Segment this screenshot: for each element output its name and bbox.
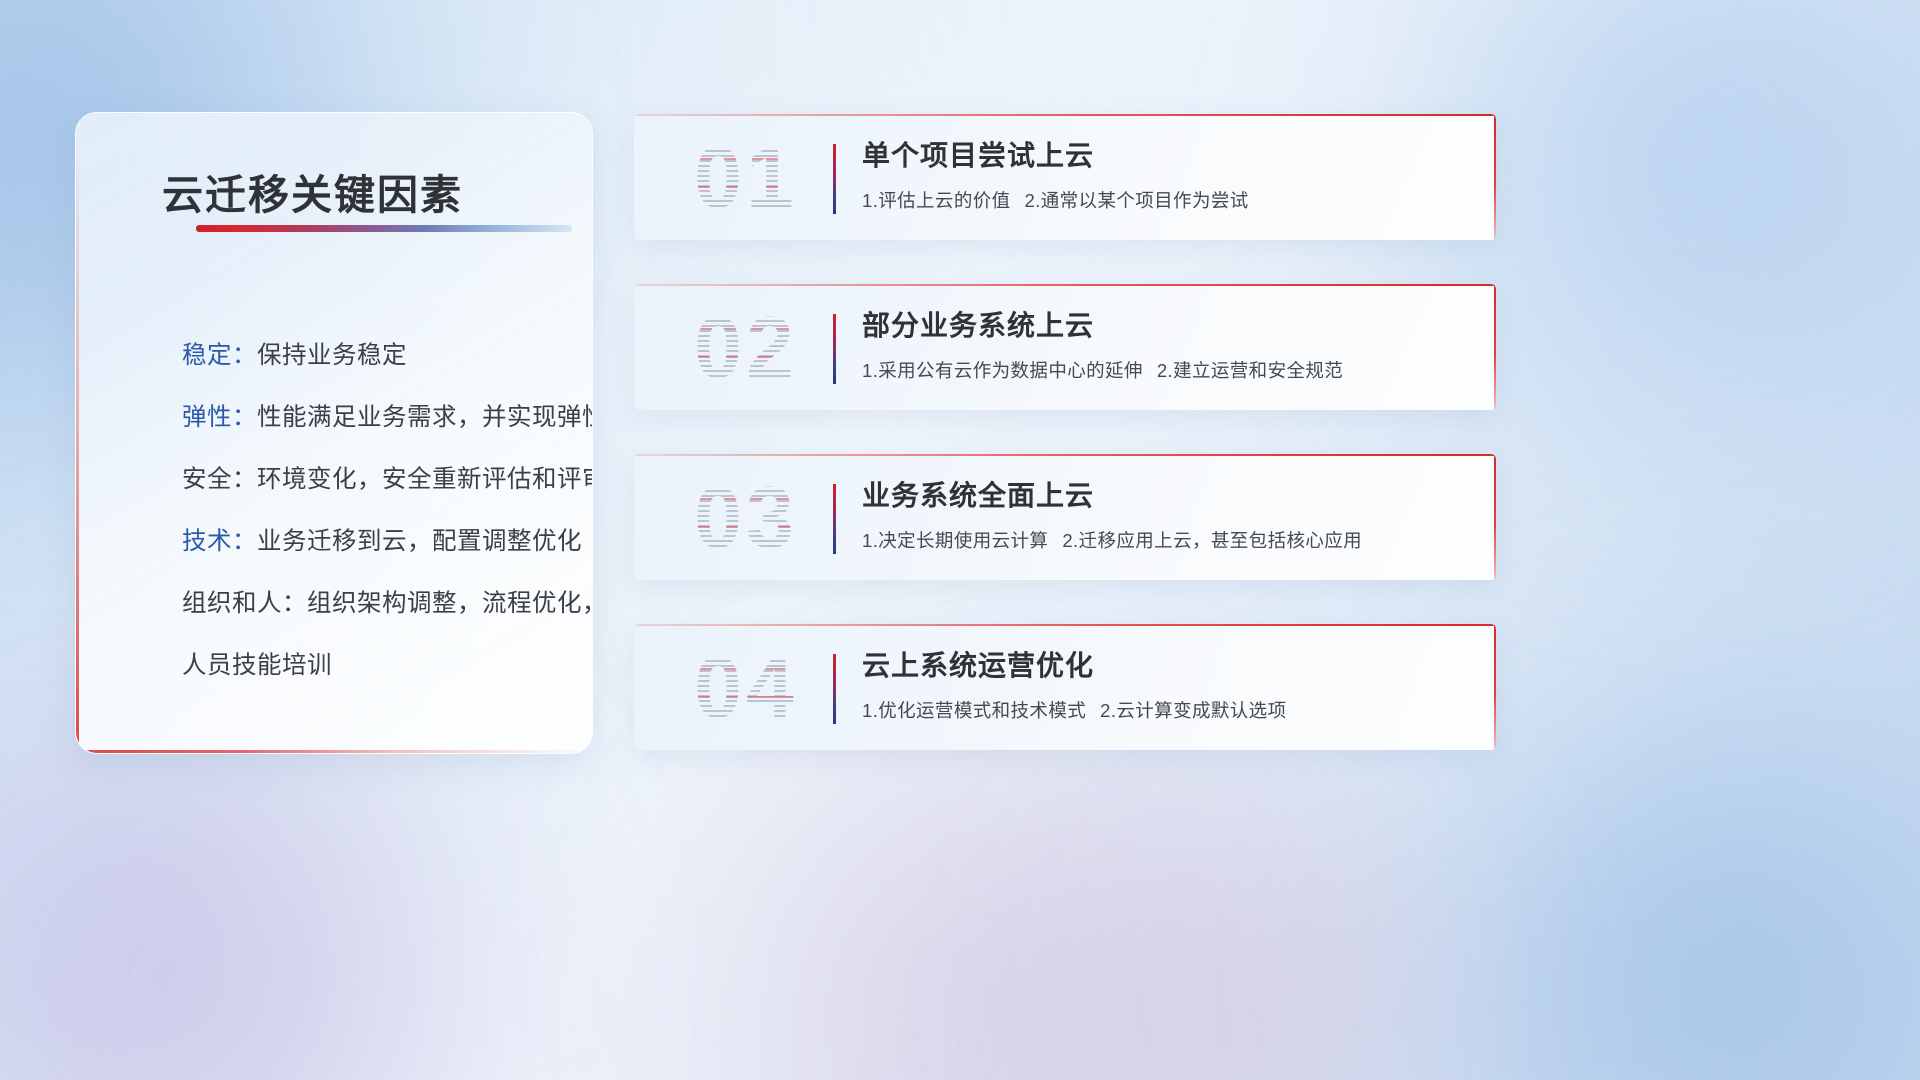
accent-bar-icon (833, 144, 836, 214)
stage-points: 1.评估上云的价值2.通常以某个项目作为尝试 (862, 188, 1470, 214)
list-item: 安全：环境变化，安全重新评估和评审 (182, 449, 562, 511)
factor-label: 组织和人： (182, 590, 307, 617)
slide-content: 云迁移关键因素 稳定：保持业务稳定 弹性：性能满足业务需求，并实现弹性 安全：环… (0, 0, 1920, 1080)
factor-value: 环境变化，安全重新评估和评审 (257, 466, 593, 493)
accent-bar-icon (833, 484, 836, 554)
factor-value: 性能满足业务需求，并实现弹性 (257, 404, 593, 431)
factor-value: 业务迁移到云，配置调整优化 (257, 528, 582, 555)
stage-number: 04 (666, 640, 826, 736)
stage-points: 1.优化运营模式和技术模式2.云计算变成默认选项 (862, 698, 1470, 724)
factor-label: 安全： (182, 466, 257, 493)
stage-card-list: 01 01 单个项目尝试上云 1.评估上云的价值2.通常以某个项目作为尝试 02… (634, 114, 1496, 794)
stage-card-body: 单个项目尝试上云 1.评估上云的价值2.通常以某个项目作为尝试 (862, 136, 1470, 214)
stage-title: 云上系统运营优化 (862, 646, 1470, 686)
stage-point: 1.决定长期使用云计算 (862, 530, 1048, 551)
stage-number: 02 (666, 300, 826, 396)
stage-card-03[interactable]: 03 03 业务系统全面上云 1.决定长期使用云计算2.迁移应用上云，甚至包括核… (634, 454, 1496, 580)
accent-bar-icon (833, 654, 836, 724)
list-item: 技术：业务迁移到云，配置调整优化 (182, 511, 562, 573)
stage-point: 2.建立运营和安全规范 (1157, 360, 1343, 381)
stage-number: 03 (666, 470, 826, 566)
stage-title: 部分业务系统上云 (862, 306, 1470, 346)
stage-point: 1.优化运营模式和技术模式 (862, 700, 1086, 721)
list-item-continuation: 人员技能培训 (182, 635, 562, 697)
title-underline-gradient (196, 225, 572, 232)
stage-title: 业务系统全面上云 (862, 476, 1470, 516)
factor-label: 技术： (182, 528, 257, 555)
stage-points: 1.决定长期使用云计算2.迁移应用上云，甚至包括核心应用 (862, 528, 1470, 554)
stage-points: 1.采用公有云作为数据中心的延伸2.建立运营和安全规范 (862, 358, 1470, 384)
stage-card-04[interactable]: 04 04 云上系统运营优化 1.优化运营模式和技术模式2.云计算变成默认选项 (634, 624, 1496, 750)
factor-value: 组织架构调整，流程优化， (307, 590, 593, 617)
factor-value: 保持业务稳定 (257, 342, 407, 369)
stage-card-body: 业务系统全面上云 1.决定长期使用云计算2.迁移应用上云，甚至包括核心应用 (862, 476, 1470, 554)
list-item: 弹性：性能满足业务需求，并实现弹性 (182, 387, 562, 449)
list-item: 稳定：保持业务稳定 (182, 325, 562, 387)
accent-bar-icon (833, 314, 836, 384)
stage-title: 单个项目尝试上云 (862, 136, 1470, 176)
stage-point: 2.迁移应用上云，甚至包括核心应用 (1062, 530, 1362, 551)
stage-point: 2.云计算变成默认选项 (1100, 700, 1286, 721)
key-factors-panel: 云迁移关键因素 稳定：保持业务稳定 弹性：性能满足业务需求，并实现弹性 安全：环… (75, 112, 593, 754)
stage-card-body: 云上系统运营优化 1.优化运营模式和技术模式2.云计算变成默认选项 (862, 646, 1470, 724)
stage-card-body: 部分业务系统上云 1.采用公有云作为数据中心的延伸2.建立运营和安全规范 (862, 306, 1470, 384)
stage-number: 01 (666, 130, 826, 226)
stage-card-02[interactable]: 02 02 部分业务系统上云 1.采用公有云作为数据中心的延伸2.建立运营和安全… (634, 284, 1496, 410)
stage-point: 1.评估上云的价值 (862, 190, 1011, 211)
list-item: 组织和人：组织架构调整，流程优化， (182, 573, 562, 635)
factor-label: 弹性： (182, 404, 257, 431)
page-title: 云迁移关键因素 (162, 161, 463, 221)
key-factors-list: 稳定：保持业务稳定 弹性：性能满足业务需求，并实现弹性 安全：环境变化，安全重新… (182, 325, 562, 697)
stage-point: 2.通常以某个项目作为尝试 (1025, 190, 1249, 211)
stage-point: 1.采用公有云作为数据中心的延伸 (862, 360, 1143, 381)
factor-label: 稳定： (182, 342, 257, 369)
stage-card-01[interactable]: 01 01 单个项目尝试上云 1.评估上云的价值2.通常以某个项目作为尝试 (634, 114, 1496, 240)
